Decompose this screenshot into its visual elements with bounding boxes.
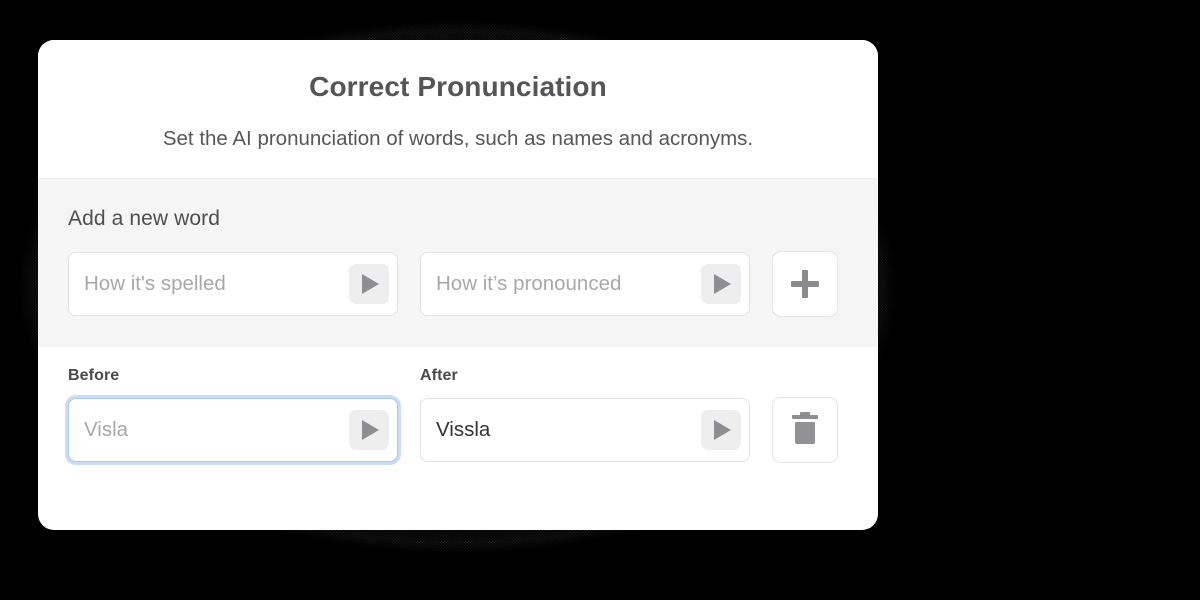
plus-icon	[791, 270, 819, 298]
table-row: Visla Vissla	[68, 397, 848, 463]
pronounced-input-wrapper[interactable]: How it’s pronounced	[420, 252, 750, 316]
add-new-word-heading: Add a new word	[68, 207, 848, 231]
trash-lid	[792, 415, 818, 419]
before-input[interactable]: Visla	[84, 420, 349, 441]
delete-word-button[interactable]	[772, 397, 838, 463]
play-icon	[714, 420, 731, 440]
spelled-input-wrapper[interactable]: How it's spelled	[68, 252, 398, 316]
play-before-button[interactable]	[349, 410, 389, 450]
card-header: Correct Pronunciation Set the AI pronunc…	[38, 40, 878, 178]
play-icon	[362, 274, 379, 294]
after-column-label: After	[420, 367, 750, 385]
add-new-word-section: Add a new word How it's spelled How it’s…	[38, 178, 878, 347]
before-input-wrapper[interactable]: Visla	[68, 398, 398, 462]
play-icon	[714, 274, 731, 294]
play-spelled-button[interactable]	[349, 264, 389, 304]
play-icon	[362, 420, 379, 440]
play-pronounced-button[interactable]	[701, 264, 741, 304]
play-after-button[interactable]	[701, 410, 741, 450]
after-input[interactable]: Vissla	[436, 420, 701, 441]
add-word-button[interactable]	[772, 251, 838, 317]
word-list-section: Before After Visla Vissla	[38, 347, 878, 491]
add-new-word-fields: How it's spelled How it’s pronounced	[68, 251, 848, 317]
trash-icon	[792, 415, 818, 445]
spelled-input[interactable]: How it's spelled	[84, 274, 349, 295]
page-title: Correct Pronunciation	[68, 70, 848, 104]
column-labels: Before After	[68, 367, 848, 385]
before-column-label: Before	[68, 367, 398, 385]
pronounced-input[interactable]: How it’s pronounced	[436, 274, 701, 295]
correct-pronunciation-card: Correct Pronunciation Set the AI pronunc…	[38, 40, 878, 530]
trash-body	[795, 422, 815, 444]
after-input-wrapper[interactable]: Vissla	[420, 398, 750, 462]
page-subtitle: Set the AI pronunciation of words, such …	[68, 126, 848, 153]
